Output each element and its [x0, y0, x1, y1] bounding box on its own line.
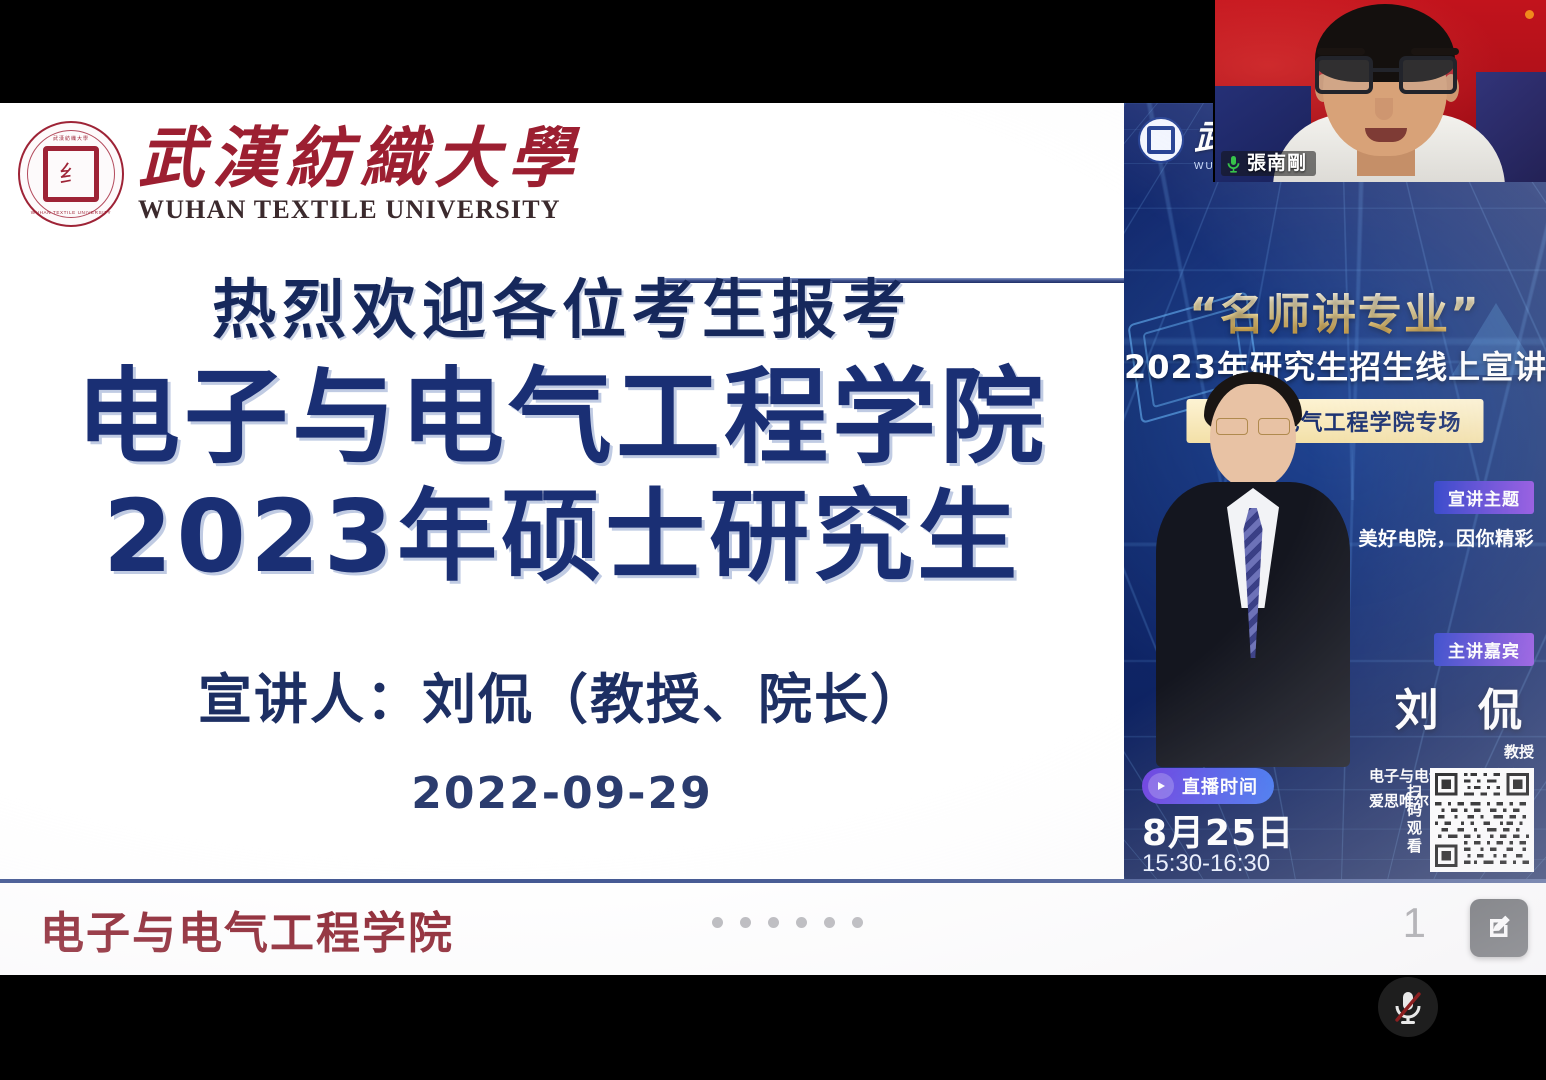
webcam-person-nose — [1375, 98, 1393, 120]
poster-title-main: “名师讲专业” — [1124, 293, 1546, 337]
shared-slide: 武漢紡織大學 纟 WUHAN TEXTILE UNIVERSITY 武漢紡織大學… — [0, 103, 1546, 975]
speaker-line: 宣讲人：刘侃（教授、院长） — [0, 655, 1124, 734]
welcome-line: 热烈欢迎各位考生报考 — [0, 273, 1124, 350]
seal-top-text: 武漢紡織大學 — [20, 135, 122, 142]
year-line: 2023年硕士研究生 — [0, 477, 1124, 597]
date-line: 2022-09-29 — [0, 768, 1124, 819]
annotate-button[interactable] — [1470, 899, 1528, 957]
poster-live-date: 8月25日 — [1142, 816, 1294, 852]
footer-dot — [740, 917, 751, 928]
video-stage: 武漢紡織大學 纟 WUHAN TEXTILE UNIVERSITY 武漢紡織大學… — [0, 0, 1546, 1080]
microphone-icon — [1226, 155, 1241, 173]
webcam-person-glasses-icon — [1315, 56, 1457, 96]
footer-dot — [712, 917, 723, 928]
poster-live-pill: 直播时间 — [1142, 768, 1274, 804]
slide-header: 武漢紡織大學 纟 WUHAN TEXTILE UNIVERSITY 武漢紡織大學… — [0, 103, 1124, 283]
poster-topic-block: 宣讲主题 美好电院，因你精彩 — [1358, 481, 1534, 551]
poster-guest-label: 主讲嘉宾 — [1434, 633, 1534, 666]
annotate-pencil-icon — [1482, 911, 1516, 945]
glasses-lens-right — [1399, 56, 1457, 94]
recording-dot — [1525, 10, 1534, 19]
university-name-en: WUHAN TEXTILE UNIVERSITY — [138, 197, 582, 223]
poster-guest-name: 刘 侃 — [1369, 674, 1534, 738]
poster-live-time: 15:30-16:30 — [1142, 852, 1270, 876]
glasses-lens-left — [1315, 56, 1373, 94]
university-seal-icon: 武漢紡織大學 纟 WUHAN TEXTILE UNIVERSITY — [18, 121, 124, 227]
poster-topic-text: 美好电院，因你精彩 — [1358, 524, 1534, 551]
seal-glyph: 纟 — [43, 146, 99, 202]
footer-college-name: 电子与电气工程学院 — [40, 897, 454, 961]
poster-qr-block: 扫码观看 — [1406, 768, 1535, 872]
poster-seal-mark — [1147, 126, 1175, 154]
slide-footer: 电子与电气工程学院 1 — [0, 879, 1546, 975]
footer-dots — [712, 917, 863, 928]
footer-dot — [824, 917, 835, 928]
slide-body: 热烈欢迎各位考生报考 电子与电气工程学院 2023年硕士研究生 宣讲人：刘侃（教… — [0, 273, 1124, 819]
qr-code-icon — [1430, 768, 1534, 872]
promo-poster: 武漢紡織大學 WUHAN TEXTILE UNIVERSITY “名师讲专业” … — [1124, 103, 1546, 880]
webcam-self-view[interactable]: 張南剛 — [1213, 0, 1546, 182]
poster-university-seal-icon — [1138, 117, 1184, 163]
participant-name: 張南剛 — [1247, 154, 1307, 173]
glasses-bridge — [1373, 68, 1399, 72]
poster-live-row: 直播时间 — [1142, 768, 1274, 804]
footer-dot — [852, 917, 863, 928]
footer-dot — [796, 917, 807, 928]
page-number: 1 — [1403, 899, 1426, 947]
participant-name-label: 張南剛 — [1221, 151, 1316, 176]
seal-bottom-text: WUHAN TEXTILE UNIVERSITY — [20, 210, 122, 215]
footer-dot — [768, 917, 779, 928]
speaker-glasses-icon — [1216, 418, 1290, 434]
webcam-person-brow-right — [1411, 48, 1459, 55]
poster-guest-title: 教授 — [1369, 742, 1534, 762]
poster-scan-label: 扫码观看 — [1406, 784, 1423, 856]
webcam-person-brow-left — [1317, 48, 1365, 55]
poster-speaker-photo — [1148, 362, 1358, 762]
university-logo: 武漢紡織大學 纟 WUHAN TEXTILE UNIVERSITY 武漢紡織大學… — [18, 121, 582, 227]
university-name-cn: 武漢紡織大學 — [138, 125, 582, 191]
poster-live-label: 直播时间 — [1182, 773, 1258, 799]
mute-indicator[interactable] — [1378, 977, 1438, 1037]
play-icon — [1148, 773, 1174, 799]
speaker-head — [1210, 384, 1296, 488]
university-names: 武漢紡織大學 WUHAN TEXTILE UNIVERSITY — [138, 125, 582, 223]
college-line: 电子与电气工程学院 — [0, 356, 1124, 479]
microphone-muted-icon — [1391, 988, 1425, 1026]
poster-topic-label: 宣讲主题 — [1434, 481, 1534, 514]
